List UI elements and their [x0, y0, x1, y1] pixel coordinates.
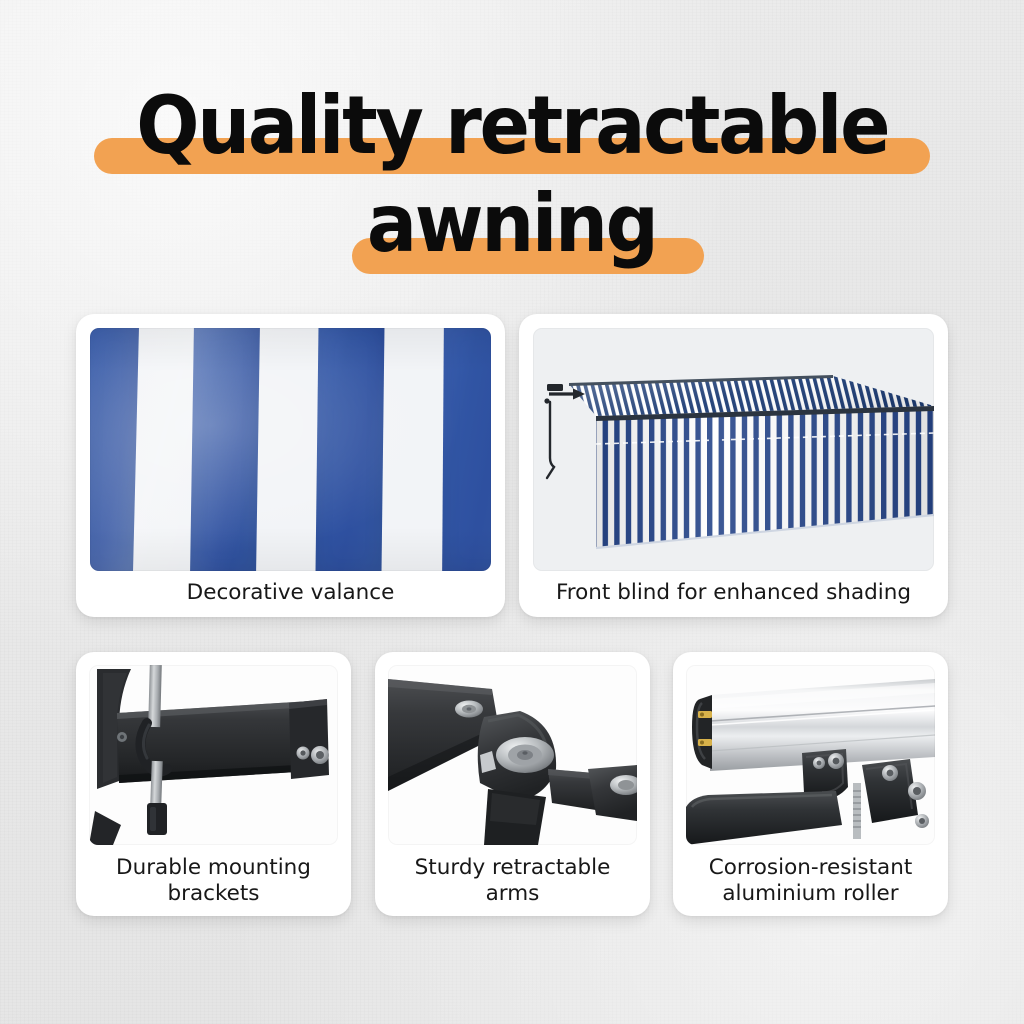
feature-card-front-blind: Front blind for enhanced shading: [519, 314, 948, 617]
title-line-1: Quality retractable: [0, 86, 1024, 178]
striped-fabric-graphic: [90, 328, 491, 571]
retractable-arm-graphic: [388, 665, 637, 845]
feature-card-brackets: Durable mounting brackets: [76, 652, 351, 916]
brackets-caption: Durable mounting brackets: [86, 855, 341, 907]
roller-caption: Corrosion-resistant aluminium roller: [683, 855, 938, 907]
feature-card-roller: Corrosion-resistant aluminium roller: [673, 652, 948, 916]
front-blind-image: [533, 328, 934, 571]
front-blind-caption: Front blind for enhanced shading: [529, 580, 938, 606]
title-line-2: awning: [0, 184, 1024, 276]
valance-caption: Decorative valance: [86, 580, 495, 606]
title-line-1-text: Quality retractable: [136, 86, 888, 166]
feature-card-arms: Sturdy retractable arms: [375, 652, 650, 916]
title-line-2-text: awning: [367, 184, 657, 264]
awning-illustration: [533, 328, 934, 571]
feature-card-valance: Decorative valance: [76, 314, 505, 617]
page-title: Quality retractable awning: [0, 86, 1024, 276]
brackets-image: [89, 665, 338, 845]
mounting-bracket-graphic: [89, 665, 338, 845]
valance-image: [90, 328, 491, 571]
aluminium-roller-graphic: [686, 665, 935, 845]
arms-image: [388, 665, 637, 845]
arms-caption: Sturdy retractable arms: [385, 855, 640, 907]
roller-image: [686, 665, 935, 845]
